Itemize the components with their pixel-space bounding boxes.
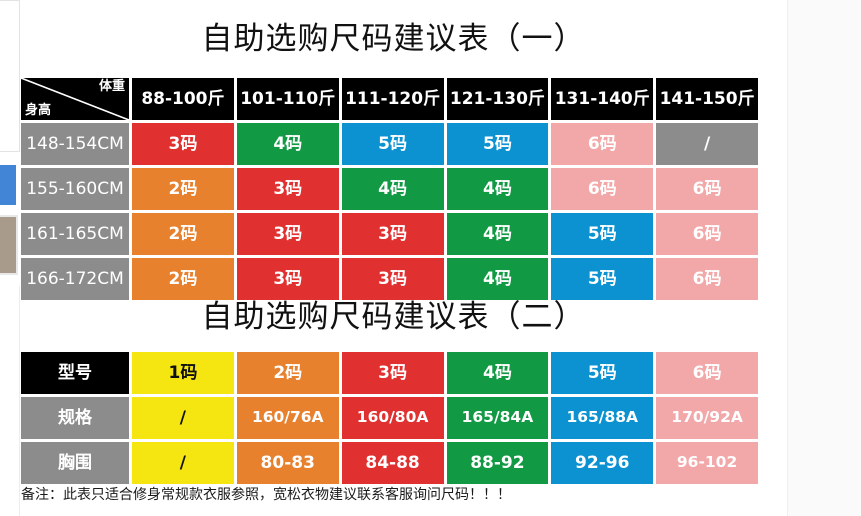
- table-1-cell-r2-c6: 6码: [656, 168, 758, 210]
- table-2-cell-r2-c1: /: [132, 397, 234, 439]
- table-1-cell-r4-c3: 3码: [342, 258, 444, 300]
- table-1-cell-r4-c4: 4码: [447, 258, 549, 300]
- table-2-title: 自助选购尺码建议表（二）: [0, 302, 787, 333]
- table-1-row-header-3: 161-165CM: [21, 213, 129, 255]
- size-suggestion-table-2: 型号1码2码3码4码5码6码规格/160/76A160/80A165/84A16…: [21, 352, 758, 484]
- table-1-corner-header: 体重身高: [21, 78, 129, 120]
- table-2-cell-r2-c5: 165/88A: [551, 397, 653, 439]
- right-background-divider: [787, 0, 788, 516]
- table-1-cell-r2-c5: 6码: [551, 168, 653, 210]
- corner-weight-label: 体重: [99, 80, 125, 94]
- table-1-column-header-5: 131-140斤: [551, 78, 653, 120]
- table-1-cell-r3-c4: 4码: [447, 213, 549, 255]
- table-2-row-header-2: 规格: [21, 397, 129, 439]
- table-1-cell-r3-c6: 6码: [656, 213, 758, 255]
- table-1-row-header-2: 155-160CM: [21, 168, 129, 210]
- table-1-column-header-3: 111-120斤: [342, 78, 444, 120]
- table-1-column-header-1: 88-100斤: [132, 78, 234, 120]
- table-1-cell-r1-c6: /: [656, 123, 758, 165]
- table-1-cell-r3-c3: 3码: [342, 213, 444, 255]
- table-2-cell-r3-c5: 92-96: [551, 442, 653, 484]
- table-2-cell-r1-c5: 5码: [551, 352, 653, 394]
- table-2-row-header-1: 型号: [21, 352, 129, 394]
- table-2-cell-r1-c2: 2码: [237, 352, 339, 394]
- table-2-cell-r3-c4: 88-92: [447, 442, 549, 484]
- table-1-cell-r1-c2: 4码: [237, 123, 339, 165]
- table-2-cell-r3-c6: 96-102: [656, 442, 758, 484]
- table-2-cell-r3-c2: 80-83: [237, 442, 339, 484]
- footnote-remark: 备注：此表只适合修身常规款衣服参照，宽松衣物建议联系客服询问尺码！！！: [21, 487, 761, 504]
- table-1-cell-r4-c5: 5码: [551, 258, 653, 300]
- corner-height-label: 身高: [25, 104, 51, 118]
- table-1-cell-r1-c4: 5码: [447, 123, 549, 165]
- table-1-column-header-2: 101-110斤: [237, 78, 339, 120]
- size-suggestion-table-1: 体重身高88-100斤101-110斤111-120斤121-130斤131-1…: [21, 78, 758, 300]
- table-2-row-header-3: 胸围: [21, 442, 129, 484]
- table-1-cell-r3-c2: 3码: [237, 213, 339, 255]
- table-1-cell-r2-c2: 3码: [237, 168, 339, 210]
- table-1-column-header-4: 121-130斤: [447, 78, 549, 120]
- table-1-row-header-1: 148-154CM: [21, 123, 129, 165]
- table-2-cell-r2-c4: 165/84A: [447, 397, 549, 439]
- table-1-cell-r1-c3: 5码: [342, 123, 444, 165]
- table-1-column-header-6: 141-150斤: [656, 78, 758, 120]
- table-1-cell-r4-c1: 2码: [132, 258, 234, 300]
- table-2-cell-r1-c3: 3码: [342, 352, 444, 394]
- table-1-title: 自助选购尺码建议表（一）: [0, 24, 787, 55]
- table-2-cell-r3-c3: 84-88: [342, 442, 444, 484]
- table-1-cell-r3-c5: 5码: [551, 213, 653, 255]
- table-1-cell-r3-c1: 2码: [132, 213, 234, 255]
- table-1-cell-r4-c2: 3码: [237, 258, 339, 300]
- table-1-cell-r2-c4: 4码: [447, 168, 549, 210]
- table-2-cell-r1-c1: 1码: [132, 352, 234, 394]
- table-1-cell-r2-c1: 2码: [132, 168, 234, 210]
- table-2-cell-r3-c1: /: [132, 442, 234, 484]
- table-1-cell-r1-c1: 3码: [132, 123, 234, 165]
- table-2-cell-r1-c6: 6码: [656, 352, 758, 394]
- table-2-cell-r1-c4: 4码: [447, 352, 549, 394]
- table-1-row-header-4: 166-172CM: [21, 258, 129, 300]
- size-chart-page: 自助选购尺码建议表（一） 体重身高88-100斤101-110斤111-120斤…: [0, 0, 861, 516]
- table-1-cell-r1-c5: 6码: [551, 123, 653, 165]
- right-background-panel: [787, 0, 861, 516]
- table-1-cell-r2-c3: 4码: [342, 168, 444, 210]
- table-2-cell-r2-c2: 160/76A: [237, 397, 339, 439]
- table-1-cell-r4-c6: 6码: [656, 258, 758, 300]
- table-2-cell-r2-c3: 160/80A: [342, 397, 444, 439]
- chart-content: 自助选购尺码建议表（一） 体重身高88-100斤101-110斤111-120斤…: [0, 0, 787, 516]
- table-2-cell-r2-c6: 170/92A: [656, 397, 758, 439]
